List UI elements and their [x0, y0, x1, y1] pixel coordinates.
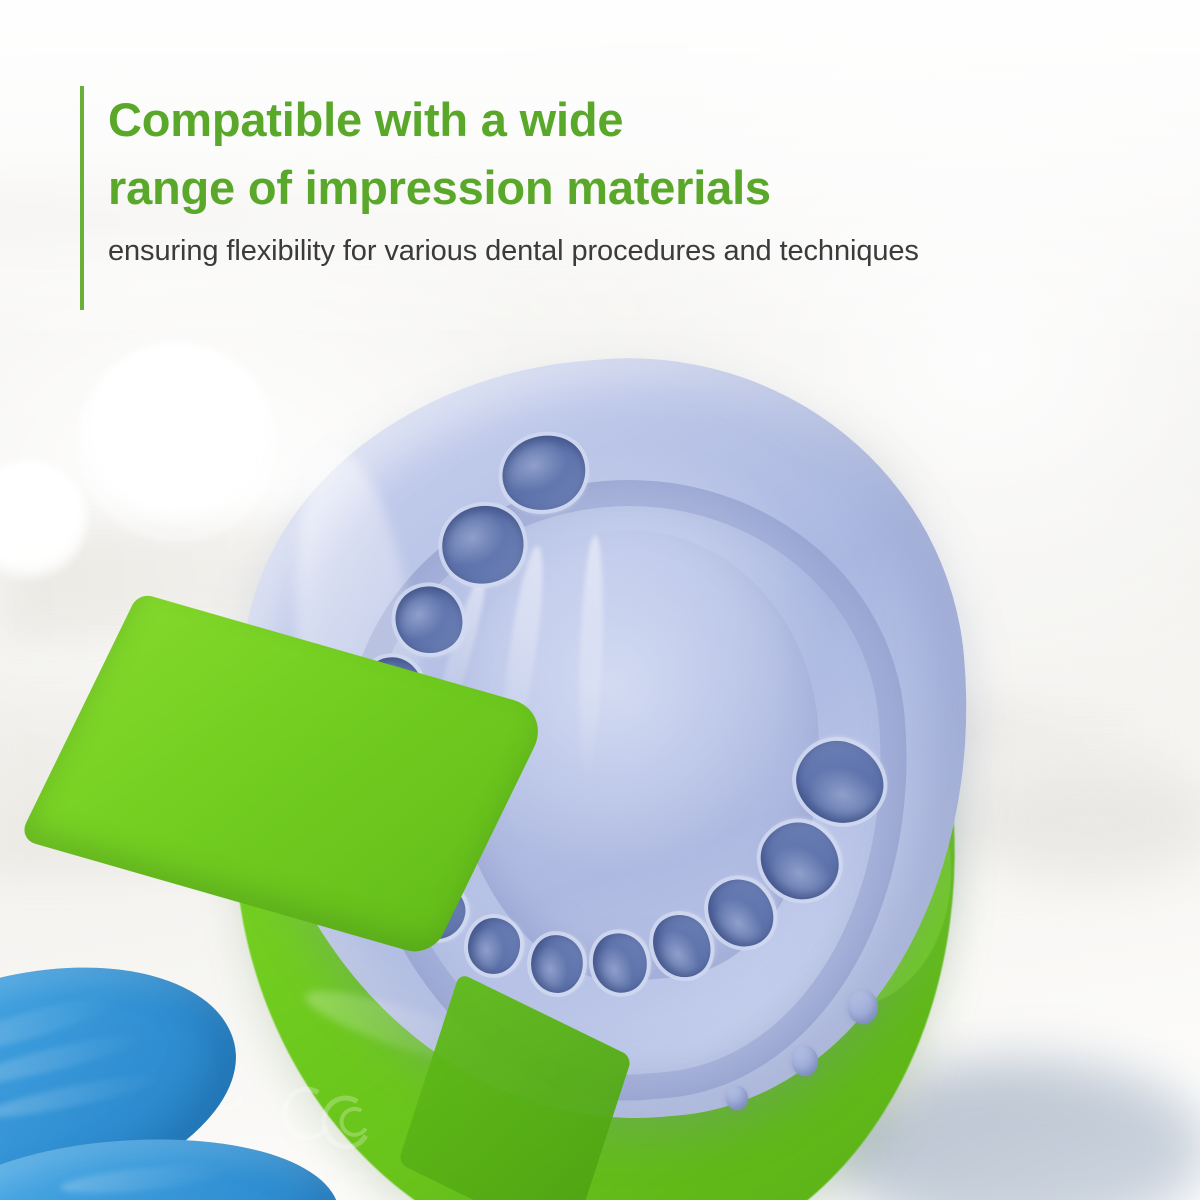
accent-bar — [80, 86, 84, 310]
headline-block: Compatible with a wide range of impressi… — [80, 86, 1140, 270]
page-title: Compatible with a wide range of impressi… — [80, 86, 1140, 221]
material-drip — [792, 1046, 818, 1076]
material-drip — [848, 990, 878, 1024]
page-subtitle: ensuring flexibility for various dental … — [80, 233, 1140, 269]
promo-banner: Compatible with a wide range of impressi… — [0, 0, 1200, 1200]
material-drip — [726, 1086, 748, 1110]
